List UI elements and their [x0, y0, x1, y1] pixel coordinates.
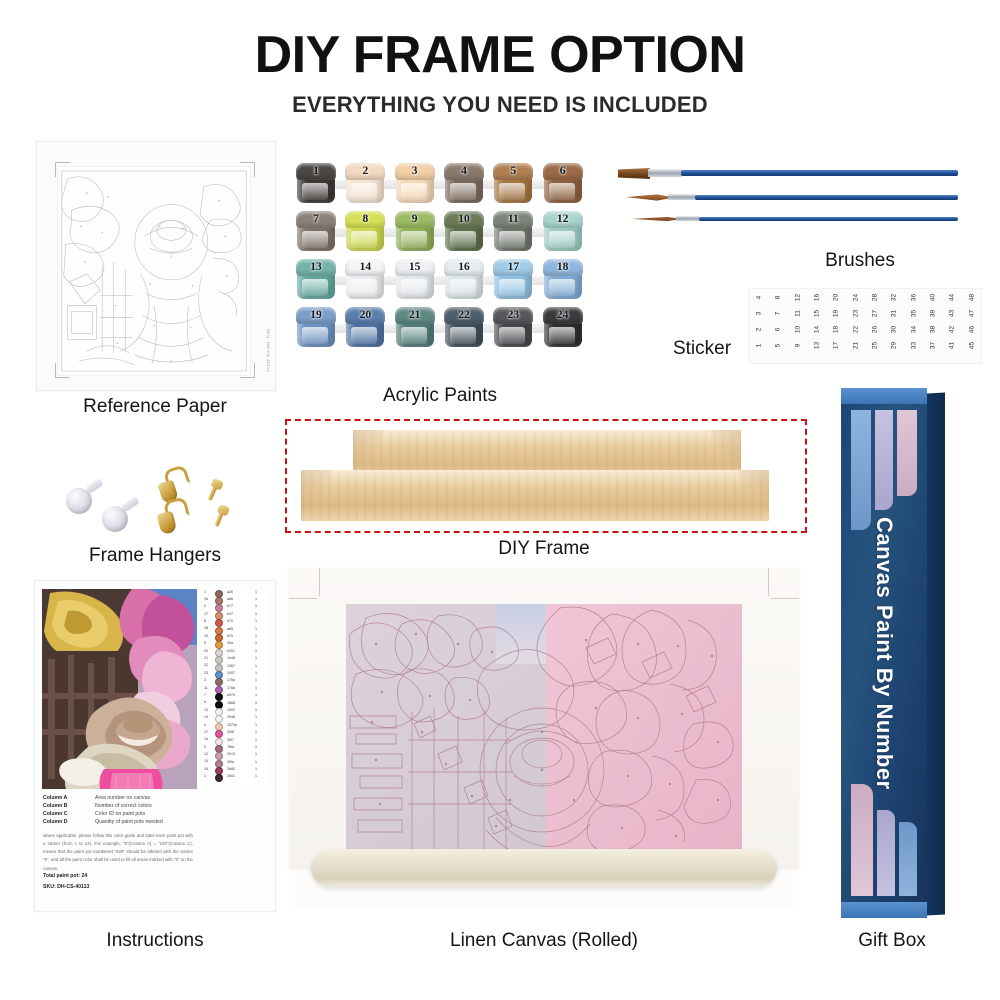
instructions-column-key-label: Column C [43, 811, 68, 817]
sticker-number: 40 [930, 290, 937, 306]
paint-pot-highlight [450, 231, 476, 248]
paint-pot-highlight [351, 183, 377, 200]
paint-pot-number: 23 [492, 309, 534, 321]
sticker-number: 44 [949, 290, 956, 306]
legend-row: 12b011 [203, 774, 267, 781]
instructions-text-block: Column AArea number on canvasColumn BNum… [43, 795, 193, 873]
brush-round-medium [626, 192, 958, 202]
paint-pot: 21 [394, 307, 436, 349]
legend-color-code: 176a [227, 678, 235, 682]
legend-quantity: 1 [255, 708, 257, 712]
sticker-number: 46 [968, 322, 975, 338]
paint-pot: 23 [492, 307, 534, 349]
legend-quantity: 1 [255, 760, 257, 764]
infographic-root: DIY FRAME OPTION EVERYTHING YOU NEED IS … [0, 0, 1000, 1000]
paint-pot: 6 [542, 163, 584, 205]
instructions-column-row: Column CColor ID on paint pots [43, 811, 193, 819]
paint-pot: 10 [443, 211, 485, 253]
legend-row: 152f9a1 [203, 759, 267, 766]
sticker-number: 29 [891, 338, 898, 354]
legend-row: 18a851 [203, 626, 267, 633]
sticker-number: 43 [949, 306, 956, 322]
legend-number: 10 [204, 634, 208, 638]
paint-pot-highlight [499, 183, 525, 200]
sticker-number: 9 [794, 338, 801, 354]
legend-color-code: 178a [227, 686, 235, 690]
sticker-number: 38 [930, 322, 937, 338]
legend-number: 4 [204, 723, 206, 727]
legend-number: 17 [204, 730, 208, 734]
legend-quantity: 1 [255, 664, 257, 668]
legend-number: 7 [204, 693, 206, 697]
legend-quantity: 1 [255, 738, 257, 742]
legend-number: 8 [204, 619, 206, 623]
paint-pot-rail [298, 228, 582, 237]
brush-ferrule [668, 194, 696, 200]
sticker-sheet-image: 1234567891011121314151617181920212223242… [748, 288, 982, 364]
instructions-artwork-thumbnail [42, 589, 197, 789]
legend-row: 8b701 [203, 619, 267, 626]
legend-color-code: a26 [227, 590, 233, 594]
instructions-column-key-label: Column D [43, 819, 68, 825]
legend-number: 12 [204, 752, 208, 756]
crop-mark [289, 598, 317, 599]
brush-round-fine [632, 214, 958, 224]
legend-quantity: 1 [255, 656, 257, 660]
legend-row: 57f6a1 [203, 744, 267, 751]
sticker-column: 41424344 [944, 294, 960, 358]
paint-pot: 12 [542, 211, 584, 253]
legend-color-code: 7f6a [227, 745, 234, 749]
brush-bristles [632, 216, 676, 222]
page-title: DIY FRAME OPTION [0, 28, 1000, 83]
paint-pot: 16 [443, 259, 485, 301]
paint-pot-highlight [549, 231, 575, 248]
legend-quantity: 1 [255, 649, 257, 653]
canvas-roll [311, 849, 777, 887]
frame-hangers-caption: Frame Hangers [40, 545, 270, 567]
paint-pot-number: 22 [443, 309, 485, 321]
legend-number: 3 [204, 678, 206, 682]
crop-mark [55, 162, 70, 163]
reference-paper-side-code: SKU: DH-CS-40113 [266, 329, 271, 372]
legend-number: 16 [204, 597, 208, 601]
sticker-number: 7 [775, 306, 782, 322]
legend-number: 5 [204, 745, 206, 749]
paint-pot: 1 [295, 163, 337, 205]
crop-mark [254, 363, 255, 378]
sticker-number: 1 [756, 338, 763, 354]
sticker-number: 16 [814, 290, 821, 306]
legend-number: 6 [204, 700, 206, 704]
paint-pot: 14 [344, 259, 386, 301]
sticker-column: 13141516 [809, 294, 825, 358]
sticker-number: 22 [852, 322, 859, 338]
legend-color-code: 2f97 [227, 738, 234, 742]
paint-pot-number: 19 [295, 309, 337, 321]
sticker-number: 18 [833, 322, 840, 338]
artwork-svg [42, 589, 197, 789]
sticker-number: 35 [910, 306, 917, 322]
instructions-column-value: Area number on canvas [95, 795, 150, 801]
acrylic-paints-caption: Acrylic Paints [292, 385, 588, 407]
sticker-number: 12 [794, 290, 801, 306]
legend-color-code: 2b80 [227, 767, 235, 771]
paint-pot-highlight [401, 327, 427, 344]
sticker-number: 14 [814, 322, 821, 338]
legend-row: 7u9701 [203, 692, 267, 699]
instructions-sku: SKU: DH-CS-40113 [43, 884, 89, 890]
sticker-number: 42 [949, 322, 956, 338]
legend-number: 1 [204, 774, 206, 778]
brush-handle [699, 217, 958, 221]
sticker-number: 3 [756, 306, 763, 322]
legend-quantity: 1 [255, 715, 257, 719]
gift-box-label: Canvas Paint By Number [841, 388, 927, 918]
paint-pot-number: 17 [492, 261, 534, 273]
sticker-number: 34 [910, 322, 917, 338]
gift-box-label-text: Canvas Paint By Number [871, 517, 897, 790]
legend-color-code: 2948 [227, 715, 235, 719]
linen-canvas-caption: Linen Canvas (Rolled) [289, 930, 799, 952]
legend-color-code: 2f48 [227, 730, 234, 734]
sticker-number: 28 [872, 290, 879, 306]
legend-color-code: 2b13 [227, 752, 235, 756]
paint-pot-row: 789101112 [292, 211, 588, 253]
sticker-number: 11 [794, 306, 801, 322]
legend-quantity: 1 [255, 627, 257, 631]
paint-pot-highlight [549, 279, 575, 296]
sticker-number: 41 [949, 338, 956, 354]
sticker-number: 2 [756, 322, 763, 338]
brush-flat [618, 168, 958, 178]
paint-pot-rail [298, 324, 582, 333]
paint-pot-highlight [351, 327, 377, 344]
paint-pot-number: 13 [295, 261, 337, 273]
paint-pot-number: 11 [492, 213, 534, 225]
legend-row: 122b131 [203, 752, 267, 759]
legend-color-code: b77 [227, 604, 233, 608]
sticker-column: 45464748 [964, 294, 980, 358]
lineart-svg [58, 167, 250, 375]
paint-pot-highlight [351, 231, 377, 248]
paint-pot: 5 [492, 163, 534, 205]
brush-bristles [626, 194, 668, 201]
crop-mark [55, 162, 56, 177]
crop-mark [254, 162, 255, 177]
reference-paper-lineart [57, 166, 251, 376]
legend-color-code: 2079a [227, 723, 237, 727]
paint-pot-number: 12 [542, 213, 584, 225]
sticker-column: 25262728 [867, 294, 883, 358]
paint-pot-highlight [401, 279, 427, 296]
paint-pot-number: 8 [344, 213, 386, 225]
legend-number: 9 [204, 641, 206, 645]
sticker-number: 10 [794, 322, 801, 338]
crop-mark [771, 598, 799, 599]
legend-number: 23 [204, 671, 208, 675]
paint-pot-number: 2 [344, 165, 386, 177]
legend-row: 20n2011 [203, 648, 267, 655]
legend-number: 11 [204, 686, 208, 690]
crop-mark [768, 568, 769, 596]
instructions-column-row: Column DQuantity of paint pots needed [43, 819, 193, 827]
canvas-sheet [289, 568, 799, 868]
sticker-number: 17 [833, 338, 840, 354]
gift-box-image: Canvas Paint By Number [833, 388, 951, 918]
gift-box-side [927, 393, 945, 916]
legend-row: 1319021 [203, 707, 267, 714]
legend-color-code: 2f9a [227, 760, 234, 764]
legend-quantity: 1 [255, 619, 257, 623]
legend-quantity: 1 [255, 701, 257, 705]
instructions-column-key-label: Column B [43, 803, 68, 809]
gift-box-line2: Paint By Number [872, 605, 897, 790]
paint-pot-number: 16 [443, 261, 485, 273]
legend-row: 3176a1 [203, 678, 267, 685]
paint-pot: 9 [394, 211, 436, 253]
legend-quantity: 1 [255, 597, 257, 601]
paint-pot-number: 3 [394, 165, 436, 177]
paint-pot-number: 24 [542, 309, 584, 321]
legend-row: 2b771 [203, 604, 267, 611]
diy-frame-highlight-box [285, 419, 807, 533]
paint-pot-highlight [549, 183, 575, 200]
legend-number: 14 [204, 737, 208, 741]
instructions-color-legend: 1a26116a6612b77117b4718b70118a8511087919… [203, 589, 267, 789]
legend-number: 20 [204, 649, 208, 653]
legend-row: 42079a1 [203, 722, 267, 729]
frame-hangers-image [62, 470, 252, 535]
paint-pot-number: 18 [542, 261, 584, 273]
legend-color-code: 879 [227, 634, 233, 638]
sticker-number: 23 [852, 306, 859, 322]
paint-pot: 19 [295, 307, 337, 349]
sticker-column: 21222324 [848, 294, 864, 358]
sticker-number: 6 [775, 322, 782, 338]
instructions-column-value: Number of correct colors [95, 803, 152, 809]
gift-box-cap-bottom [841, 902, 927, 918]
sticker-number: 30 [891, 322, 898, 338]
sticker-number: 24 [852, 290, 859, 306]
paint-pot-number: 4 [443, 165, 485, 177]
legend-quantity: 1 [255, 730, 257, 734]
legend-quantity: 1 [255, 774, 257, 778]
sticker-column: 33343536 [906, 294, 922, 358]
legend-color-code: a85 [227, 627, 233, 631]
sticker-number: 32 [891, 290, 898, 306]
instructions-total-paint-pot: Total paint pot: 24 [43, 873, 87, 879]
paint-pot: 17 [492, 259, 534, 301]
paint-pot: 24 [542, 307, 584, 349]
crop-mark [55, 377, 70, 378]
legend-row: 2310071 [203, 670, 267, 677]
paint-pot-number: 6 [542, 165, 584, 177]
crop-mark [319, 568, 320, 596]
legend-color-code: 1902 [227, 708, 235, 712]
legend-row: 618681 [203, 700, 267, 707]
paint-pot-number: 15 [394, 261, 436, 273]
legend-row: 108791 [203, 633, 267, 640]
paint-pot-highlight [499, 279, 525, 296]
instructions-column-key: Column AArea number on canvasColumn BNum… [43, 795, 193, 827]
legend-color-code: n201 [227, 649, 235, 653]
paint-pot-number: 21 [394, 309, 436, 321]
reference-paper-caption: Reference Paper [36, 396, 274, 418]
paint-pot-highlight [302, 279, 328, 296]
gift-box-line1: Canvas [872, 517, 897, 598]
paint-pot-number: 7 [295, 213, 337, 225]
paint-pot-highlight [549, 327, 575, 344]
legend-color-code: b47 [227, 612, 233, 616]
sticker-number: 45 [968, 338, 975, 354]
legend-quantity: 1 [255, 634, 257, 638]
paint-pot-highlight [450, 279, 476, 296]
paint-pot: 18 [542, 259, 584, 301]
paint-pot-highlight [401, 183, 427, 200]
legend-row: 17b471 [203, 611, 267, 618]
legend-quantity: 1 [255, 678, 257, 682]
canvas-lineart-svg [346, 604, 742, 857]
crop-mark [55, 363, 56, 378]
legend-row: 1929481 [203, 715, 267, 722]
brush-bristles [618, 168, 650, 179]
paint-pot-rail [298, 180, 582, 189]
instructions-caption: Instructions [20, 930, 290, 952]
legend-row: 242b801 [203, 766, 267, 773]
legend-row: 172f481 [203, 729, 267, 736]
legend-number: 17 [204, 612, 208, 616]
legend-color-code: 2b01 [227, 774, 235, 778]
page-subtitle: EVERYTHING YOU NEED IS INCLUDED [0, 92, 1000, 118]
sticker-number: 37 [930, 338, 937, 354]
sticker-number: 4 [756, 290, 763, 306]
paint-pot-rail [298, 276, 582, 285]
legend-row: 16a661 [203, 596, 267, 603]
paint-pot-highlight [302, 231, 328, 248]
sticker-number: 48 [968, 290, 975, 306]
sticker-number: 5 [775, 338, 782, 354]
paint-pot-highlight [351, 279, 377, 296]
legend-number: 18 [204, 626, 208, 630]
legend-number: 19 [204, 715, 208, 719]
legend-number: 21 [204, 656, 208, 660]
legend-quantity: 1 [255, 612, 257, 616]
linen-canvas-image [289, 568, 799, 906]
legend-quantity: 1 [255, 686, 257, 690]
instructions-column-row: Column BNumber of correct colors [43, 803, 193, 811]
legend-row: 2213671 [203, 663, 267, 670]
brush-ferrule [648, 169, 682, 177]
sticker-number: 25 [872, 338, 879, 354]
sticker-number: 13 [814, 338, 821, 354]
brushes-image [618, 168, 958, 240]
sticker-number: 21 [852, 338, 859, 354]
legend-color-code: 1n48 [227, 656, 235, 660]
paint-pot-highlight [302, 183, 328, 200]
paint-pot: 20 [344, 307, 386, 349]
paint-pot-highlight [450, 327, 476, 344]
sticker-column: 9101112 [790, 294, 806, 358]
legend-color-code: 1868 [227, 701, 235, 705]
sticker-number: 26 [872, 322, 879, 338]
sticker-number: 8 [775, 290, 782, 306]
paint-pot: 13 [295, 259, 337, 301]
paint-pot-highlight [302, 327, 328, 344]
paint-pot-number: 10 [443, 213, 485, 225]
paint-pot-number: 20 [344, 309, 386, 321]
frame-bar-bottom [301, 470, 769, 521]
sticker-number: 36 [910, 290, 917, 306]
paint-pot: 11 [492, 211, 534, 253]
sticker-number: 47 [968, 306, 975, 322]
legend-quantity: 1 [255, 693, 257, 697]
paint-pot: 2 [344, 163, 386, 205]
legend-quantity: 1 [255, 752, 257, 756]
sticker-number: 20 [833, 290, 840, 306]
brush-handle [681, 170, 958, 176]
sticker-number: 31 [891, 306, 898, 322]
instructions-column-value: Color ID on paint pots [95, 811, 145, 817]
legend-color-code: a66 [227, 597, 233, 601]
paint-pot: 3 [394, 163, 436, 205]
paint-pot: 7 [295, 211, 337, 253]
canvas-numbered-lineart [346, 604, 742, 857]
crop-mark [240, 377, 255, 378]
legend-quantity: 1 [255, 604, 257, 608]
legend-row: 142f971 [203, 737, 267, 744]
paint-pot-number: 1 [295, 165, 337, 177]
legend-color-code: 90a [227, 641, 233, 645]
paint-pot-highlight [401, 231, 427, 248]
legend-number: 24 [204, 767, 208, 771]
gift-box-cap-top [841, 388, 927, 404]
paint-pot-highlight [450, 183, 476, 200]
legend-quantity: 1 [255, 723, 257, 727]
paint-pot-highlight [499, 327, 525, 344]
sticker-number: 27 [872, 306, 879, 322]
sticker-number: 39 [930, 306, 937, 322]
legend-color-code: 1007 [227, 671, 235, 675]
instructions-note: where applicable, please follow this col… [43, 832, 193, 873]
crop-mark [240, 162, 255, 163]
legend-quantity: 1 [255, 745, 257, 749]
paint-pot-number: 9 [394, 213, 436, 225]
legend-quantity: 1 [255, 641, 257, 645]
legend-number: 15 [204, 759, 208, 763]
legend-number: 1 [204, 590, 206, 594]
legend-color-swatch [215, 774, 223, 782]
legend-row: 11178a1 [203, 685, 267, 692]
legend-color-code: b70 [227, 619, 233, 623]
instructions-column-key-label: Column A [43, 795, 67, 801]
brush-handle [695, 195, 958, 200]
legend-quantity: 1 [255, 590, 257, 594]
legend-quantity: 1 [255, 767, 257, 771]
instructions-column-value: Quantity of paint pots needed [95, 819, 163, 825]
paint-pot: 4 [443, 163, 485, 205]
paint-pot: 8 [344, 211, 386, 253]
reference-paper-image: SKU: DH-CS-40113 [36, 141, 276, 391]
gift-box-front: Canvas Paint By Number [841, 388, 927, 918]
paint-pot: 22 [443, 307, 485, 349]
sticker-column: 17181920 [828, 294, 844, 358]
legend-number: 2 [204, 604, 206, 608]
legend-row: 211n481 [203, 656, 267, 663]
sticker-column: 5678 [770, 294, 786, 358]
brushes-caption: Brushes [770, 250, 950, 272]
legend-row: 1a261 [203, 589, 267, 596]
